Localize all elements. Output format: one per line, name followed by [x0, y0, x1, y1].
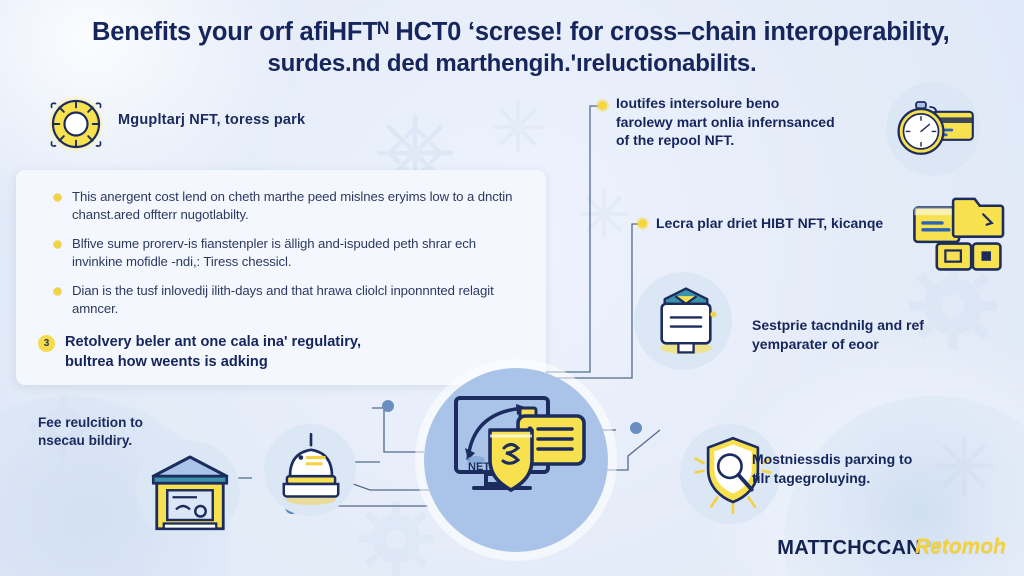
clipboard-icon [648, 282, 724, 367]
list-item: Dian is the tusf inlovedij ilith-days an… [38, 282, 524, 317]
title-line-2: surdes.nd ded marthengih.'ıreluctionabil… [92, 48, 932, 80]
logo-main-text: MATTCHCCAN [777, 537, 921, 560]
svg-text:NET: NET [468, 461, 490, 473]
logo-script-text: Retomoh [915, 535, 1006, 559]
callout-line: Lecra plar driet HIBT NFT, kicanqe [656, 214, 926, 233]
gear-ring-icon [44, 92, 108, 161]
callout-dot-icon [598, 101, 607, 110]
folders-icon [912, 192, 1008, 283]
callout-line: Mostniessdis parxing to [752, 450, 982, 469]
number-badge: 3 [38, 335, 55, 352]
title-line-1: Benefits your orf afiHFTᴺ HCT0 ‘screse! … [92, 16, 932, 48]
callout-line: Ioutifes intersolure beno [616, 94, 866, 113]
callout-bottom-right: Mostniessdis parxing to tilr tagegroluyi… [752, 450, 982, 487]
bullet-text: Blfive sume prorerv-is fianstenpler is ä… [72, 235, 524, 270]
callout-line: Sestprie tacndnilg and ref [752, 316, 982, 335]
bullet-dot-icon [54, 194, 61, 201]
callout-mid-right: Lecra plar driet HIBT NFT, kicanqe [656, 214, 926, 233]
bullet-dot-icon [54, 288, 61, 295]
highlight-line-2: bultrea how weents is adking [65, 354, 268, 370]
list-item: Blfive sume prorerv-is fianstenpler is ä… [38, 235, 524, 270]
left-top-label: Mgupltarj NFT, toress park [118, 112, 305, 128]
callout-lower-right: Sestprie tacndnilg and ref yemparater of… [752, 316, 982, 353]
highlight-text: Retolvery beler ant one cala ina' regula… [65, 333, 361, 372]
callout-line: of the repool NFT. [616, 131, 866, 150]
highlight-item: 3 Retolvery beler ant one cala ina' regu… [38, 333, 524, 372]
logo[interactable]: MATTCHCCAN Retomoh [777, 535, 1006, 560]
bullet-text: Dian is the tusf inlovedij ilith-days an… [72, 282, 524, 317]
stopwatch-card-icon [893, 95, 977, 170]
highlight-line-1: Retolvery beler ant one cala ina' regula… [65, 334, 361, 350]
snowflake-watermark-icon [575, 185, 633, 243]
bullet-dot-icon [54, 241, 61, 248]
callout-line: farolewy mart onlia infernsanced [616, 113, 866, 132]
page-title: Benefits your orf afiHFTᴺ HCT0 ‘screse! … [92, 16, 932, 80]
center-illustration: NET [424, 368, 608, 552]
infographic-canvas: Benefits your orf afiHFTᴺ HCT0 ‘screse! … [0, 0, 1024, 576]
note-line: Fee reulcition to [38, 414, 228, 432]
list-item: This anergent cost lend on cheth marthe … [38, 188, 524, 223]
callout-top-right: Ioutifes intersolure beno farolewy mart … [616, 94, 866, 150]
snowflake-watermark-icon [487, 96, 549, 158]
content-card: This anergent cost lend on cheth marthe … [16, 170, 546, 385]
storefront-icon [146, 450, 234, 539]
callout-line: tilr tagegroluying. [752, 469, 982, 488]
callout-dot-icon [638, 219, 647, 228]
auction-bell-icon [276, 430, 346, 515]
callout-line: yemparater of eoor [752, 335, 982, 354]
bullet-text: This anergent cost lend on cheth marthe … [72, 188, 524, 223]
